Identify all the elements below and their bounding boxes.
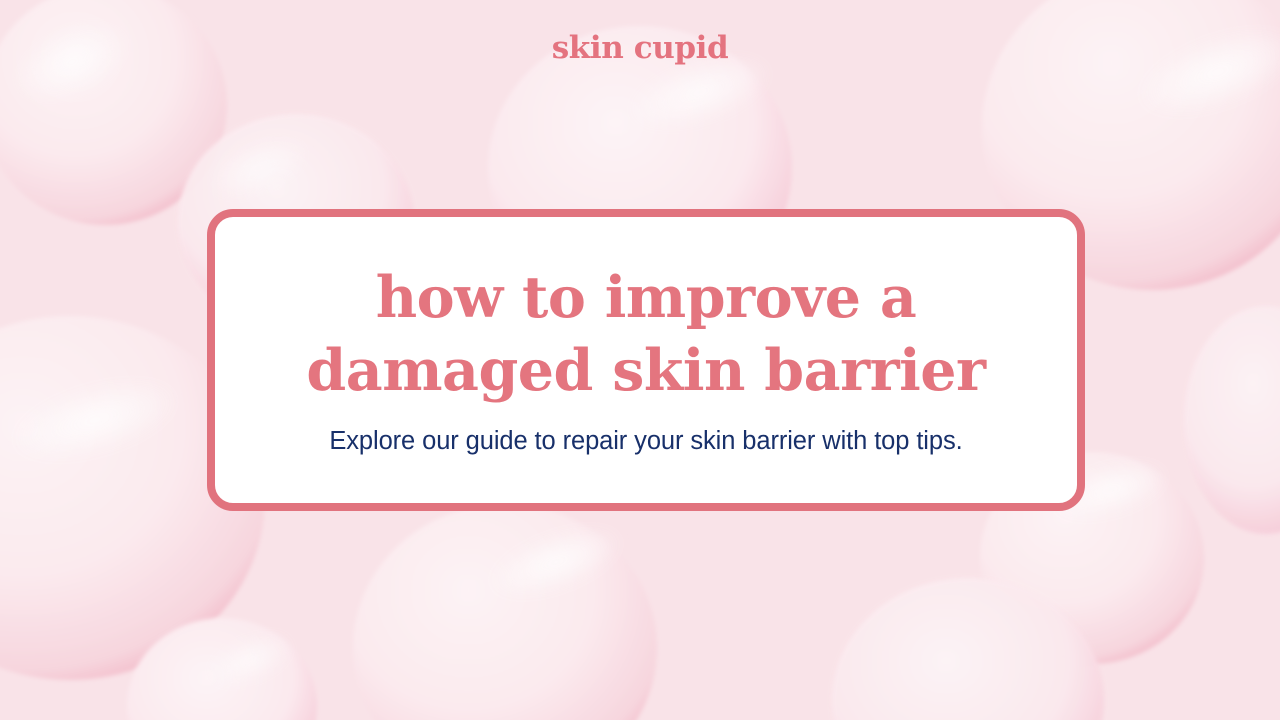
bubble-right-edge <box>1184 306 1280 534</box>
bubble-bottom-center <box>353 504 657 720</box>
brand-logo: skin cupid <box>0 30 1280 67</box>
hero-card: how to improve a damaged skin barrier Ex… <box>207 209 1085 511</box>
bubble-bottom-small <box>127 618 317 720</box>
bubble-bottom-far-right <box>832 578 1104 720</box>
poster-canvas: skin cupid how to improve a damaged skin… <box>0 0 1280 720</box>
page-title: how to improve a damaged skin barrier <box>272 262 1019 408</box>
page-subtitle: Explore our guide to repair your skin ba… <box>303 425 988 458</box>
